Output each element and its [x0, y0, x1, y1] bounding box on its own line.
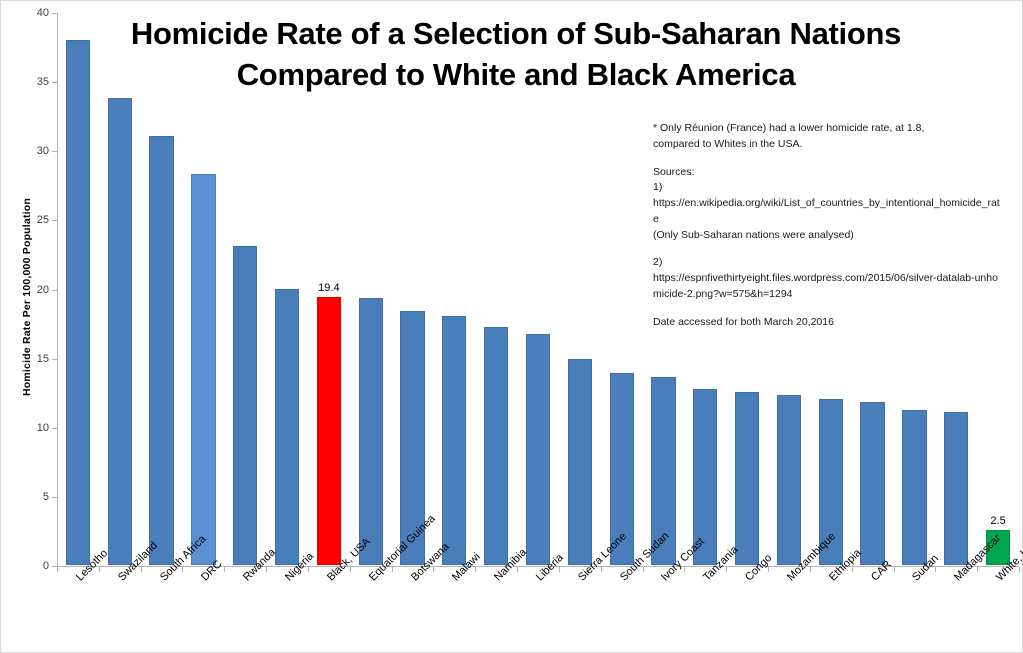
- bar[interactable]: [860, 402, 884, 565]
- x-axis-tick-mark: [726, 567, 727, 572]
- x-axis-tick-mark: [517, 567, 518, 572]
- bar[interactable]: [442, 316, 466, 565]
- x-axis-tick-mark: [99, 567, 100, 572]
- source-1-number: 1): [653, 180, 1003, 196]
- x-axis-tick-mark: [141, 567, 142, 572]
- y-axis-tick-label: 0: [13, 560, 49, 572]
- bar[interactable]: [66, 40, 90, 565]
- bar-value-label: 19.4: [318, 282, 339, 294]
- y-axis-tick-mark: [52, 82, 57, 83]
- x-axis-tick-mark: [224, 567, 225, 572]
- x-axis-tick-mark: [601, 567, 602, 572]
- bar[interactable]: [944, 412, 968, 565]
- bar[interactable]: [191, 174, 215, 565]
- y-axis-tick-label: 40: [13, 7, 49, 19]
- chart-container: Homicide Rate of a Selection of Sub-Saha…: [0, 0, 1023, 653]
- y-axis-tick-label: 25: [13, 214, 49, 226]
- y-axis-title: Homicide Rate Per 100,000 Population: [21, 197, 33, 397]
- y-axis-tick-label: 30: [13, 145, 49, 157]
- x-axis-tick-mark: [894, 567, 895, 572]
- y-axis-tick-mark: [52, 220, 57, 221]
- y-axis-tick-mark: [52, 359, 57, 360]
- bar[interactable]: [777, 395, 801, 565]
- sources-heading: Sources:: [653, 165, 1003, 181]
- y-axis-tick-label: 10: [13, 422, 49, 434]
- x-axis-tick-mark: [852, 567, 853, 572]
- x-axis-tick-mark: [684, 567, 685, 572]
- x-axis-line: [57, 566, 1019, 567]
- x-axis-tick-mark: [308, 567, 309, 572]
- x-axis-tick-mark: [57, 567, 58, 572]
- y-axis-tick-mark: [52, 428, 57, 429]
- y-axis-tick-mark: [52, 497, 57, 498]
- source-1-note: (Only Sub-Saharan nations were analysed): [653, 228, 1003, 244]
- x-axis-tick-mark: [559, 567, 560, 572]
- spacer: [653, 303, 1003, 315]
- source-1-url[interactable]: https://en.wikipedia.org/wiki/List_of_co…: [653, 196, 1003, 228]
- y-axis-tick-mark: [52, 151, 57, 152]
- source-2-url[interactable]: https://espnfivethirtyeight.files.wordpr…: [653, 271, 1003, 303]
- x-axis-tick-mark: [475, 567, 476, 572]
- spacer: [653, 243, 1003, 255]
- x-axis-tick-mark: [977, 567, 978, 572]
- x-axis-tick-mark: [182, 567, 183, 572]
- bar[interactable]: [484, 327, 508, 565]
- bar[interactable]: [526, 334, 550, 565]
- bar[interactable]: [902, 410, 926, 565]
- x-axis-tick-mark: [935, 567, 936, 572]
- x-axis-tick-mark: [643, 567, 644, 572]
- bar[interactable]: [735, 392, 759, 565]
- y-axis-tick-label: 20: [13, 284, 49, 296]
- x-axis-tick-mark: [392, 567, 393, 572]
- y-axis-tick-label: 35: [13, 76, 49, 88]
- bar[interactable]: [108, 98, 132, 565]
- bar-value-label: 2.5: [990, 515, 1005, 527]
- bar[interactable]: [149, 136, 173, 565]
- y-axis-tick-mark: [52, 290, 57, 291]
- spacer: [653, 153, 1003, 165]
- x-axis-tick-mark: [768, 567, 769, 572]
- y-axis-tick-mark: [52, 13, 57, 14]
- y-axis-line: [57, 13, 58, 567]
- footnote-line-1: * Only Réunion (France) had a lower homi…: [653, 121, 1003, 137]
- bar[interactable]: [233, 246, 257, 565]
- annotation-block: * Only Réunion (France) had a lower homi…: [653, 121, 1003, 330]
- source-2-number: 2): [653, 255, 1003, 271]
- x-axis-tick-mark: [433, 567, 434, 572]
- bar[interactable]: [275, 289, 299, 566]
- y-axis-tick-label: 15: [13, 353, 49, 365]
- bar[interactable]: [568, 359, 592, 565]
- x-axis-tick-mark: [1019, 567, 1020, 572]
- date-accessed: Date accessed for both March 20,2016: [653, 315, 1003, 331]
- x-axis-tick-mark: [266, 567, 267, 572]
- x-axis-tick-mark: [350, 567, 351, 572]
- bar[interactable]: [359, 298, 383, 565]
- bar[interactable]: [317, 297, 341, 565]
- footnote-line-2: compared to Whites in the USA.: [653, 137, 1003, 153]
- y-axis-tick-label: 5: [13, 491, 49, 503]
- x-axis-tick-mark: [810, 567, 811, 572]
